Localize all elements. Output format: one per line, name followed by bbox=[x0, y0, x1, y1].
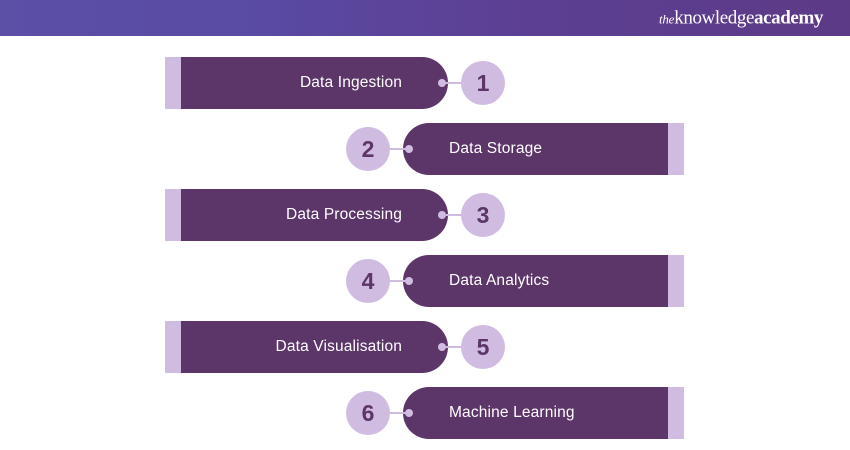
step-bar[interactable]: Data Visualisation bbox=[181, 321, 448, 373]
logo-word-the: the bbox=[659, 12, 674, 27]
step-accent-bar bbox=[668, 255, 684, 307]
step-accent-bar bbox=[165, 189, 181, 241]
brand-logo: theknowledgeacademy bbox=[659, 9, 823, 28]
logo-word-academy: academy bbox=[754, 8, 823, 29]
step-number: 6 bbox=[362, 402, 375, 425]
step-number-circle[interactable]: 2 bbox=[346, 127, 390, 171]
step-label: Data Ingestion bbox=[300, 74, 402, 92]
logo-word-knowledge: knowledge bbox=[674, 8, 754, 29]
step-number: 2 bbox=[362, 138, 375, 161]
step-connector-line bbox=[446, 82, 462, 84]
step-number-circle[interactable]: 5 bbox=[461, 325, 505, 369]
step-bar[interactable]: Data Analytics bbox=[403, 255, 668, 307]
process-step-row: Machine Learning6 bbox=[0, 387, 850, 439]
step-connector-dot bbox=[405, 145, 413, 153]
step-number: 1 bbox=[477, 72, 490, 95]
step-bar[interactable]: Data Ingestion bbox=[181, 57, 448, 109]
step-label: Data Storage bbox=[449, 140, 542, 158]
step-connector-line bbox=[446, 346, 462, 348]
step-bar[interactable]: Data Processing bbox=[181, 189, 448, 241]
step-label: Data Processing bbox=[286, 206, 402, 224]
step-accent-bar bbox=[165, 321, 181, 373]
step-connector-dot bbox=[405, 277, 413, 285]
step-number-circle[interactable]: 4 bbox=[346, 259, 390, 303]
page-header: theknowledgeacademy bbox=[0, 0, 850, 36]
step-number-circle[interactable]: 3 bbox=[461, 193, 505, 237]
process-step-row: Data Analytics4 bbox=[0, 255, 850, 307]
step-connector-line bbox=[446, 214, 462, 216]
step-bar[interactable]: Machine Learning bbox=[403, 387, 668, 439]
step-label: Data Visualisation bbox=[276, 338, 403, 356]
step-number: 5 bbox=[477, 336, 490, 359]
step-number-circle[interactable]: 6 bbox=[346, 391, 390, 435]
process-steps-diagram: Data Ingestion1Data Storage2Data Process… bbox=[0, 36, 850, 450]
step-bar[interactable]: Data Storage bbox=[403, 123, 668, 175]
step-connector-dot bbox=[438, 79, 446, 87]
process-step-row: Data Visualisation5 bbox=[0, 321, 850, 373]
step-number: 3 bbox=[477, 204, 490, 227]
step-accent-bar bbox=[165, 57, 181, 109]
process-step-row: Data Storage2 bbox=[0, 123, 850, 175]
step-connector-dot bbox=[438, 211, 446, 219]
step-number-circle[interactable]: 1 bbox=[461, 61, 505, 105]
step-connector-dot bbox=[405, 409, 413, 417]
step-label: Data Analytics bbox=[449, 272, 549, 290]
step-label: Machine Learning bbox=[449, 404, 575, 422]
process-step-row: Data Ingestion1 bbox=[0, 57, 850, 109]
step-connector-dot bbox=[438, 343, 446, 351]
step-accent-bar bbox=[668, 123, 684, 175]
process-step-row: Data Processing3 bbox=[0, 189, 850, 241]
step-accent-bar bbox=[668, 387, 684, 439]
step-number: 4 bbox=[362, 270, 375, 293]
